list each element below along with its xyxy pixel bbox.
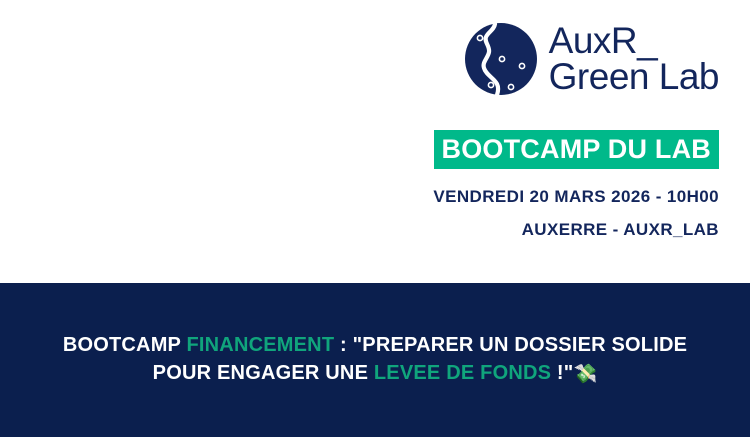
banner-line2-post: !"	[551, 362, 573, 384]
banner-headline-line2: POUR ENGAGER UNE LEVEE DE FONDS !"💸	[18, 359, 732, 389]
brand-wordmark-line1: AuxR_	[549, 24, 719, 58]
title-band-row: BOOTCAMP DU LAB	[434, 130, 720, 169]
banner-line1-highlight: FINANCEMENT	[186, 334, 334, 356]
event-title: BOOTCAMP DU LAB	[434, 130, 720, 169]
brand-logo: AuxR_ Green Lab	[464, 22, 719, 96]
banner-line1-post: : "PREPARER UN DOSSIER SOLIDE	[334, 334, 687, 356]
banner-line2-pre: POUR ENGAGER UNE	[153, 362, 374, 384]
flyer-page: AuxR_ Green Lab BOOTCAMP DU LAB VENDREDI…	[0, 0, 750, 437]
event-location: AUXERRE - AUXR_LAB	[433, 221, 719, 238]
banner-headline-line1: BOOTCAMP FINANCEMENT : "PREPARER UN DOSS…	[18, 331, 732, 359]
brand-wordmark-line2: Green Lab	[549, 60, 719, 94]
auxr-green-lab-globe-icon	[464, 22, 538, 96]
event-datetime: VENDREDI 20 MARS 2026 - 10H00	[433, 188, 719, 205]
banner-section: BOOTCAMP FINANCEMENT : "PREPARER UN DOSS…	[0, 283, 750, 437]
banner-headline: BOOTCAMP FINANCEMENT : "PREPARER UN DOSS…	[0, 331, 750, 389]
money-with-wings-icon: 💸	[573, 364, 597, 385]
brand-wordmark: AuxR_ Green Lab	[549, 24, 719, 93]
banner-line2-highlight: LEVEE DE FONDS	[374, 362, 551, 384]
hero-section: AuxR_ Green Lab BOOTCAMP DU LAB VENDREDI…	[0, 0, 750, 283]
event-meta: VENDREDI 20 MARS 2026 - 10H00 AUXERRE - …	[433, 188, 719, 238]
banner-line1-pre: BOOTCAMP	[63, 334, 187, 356]
